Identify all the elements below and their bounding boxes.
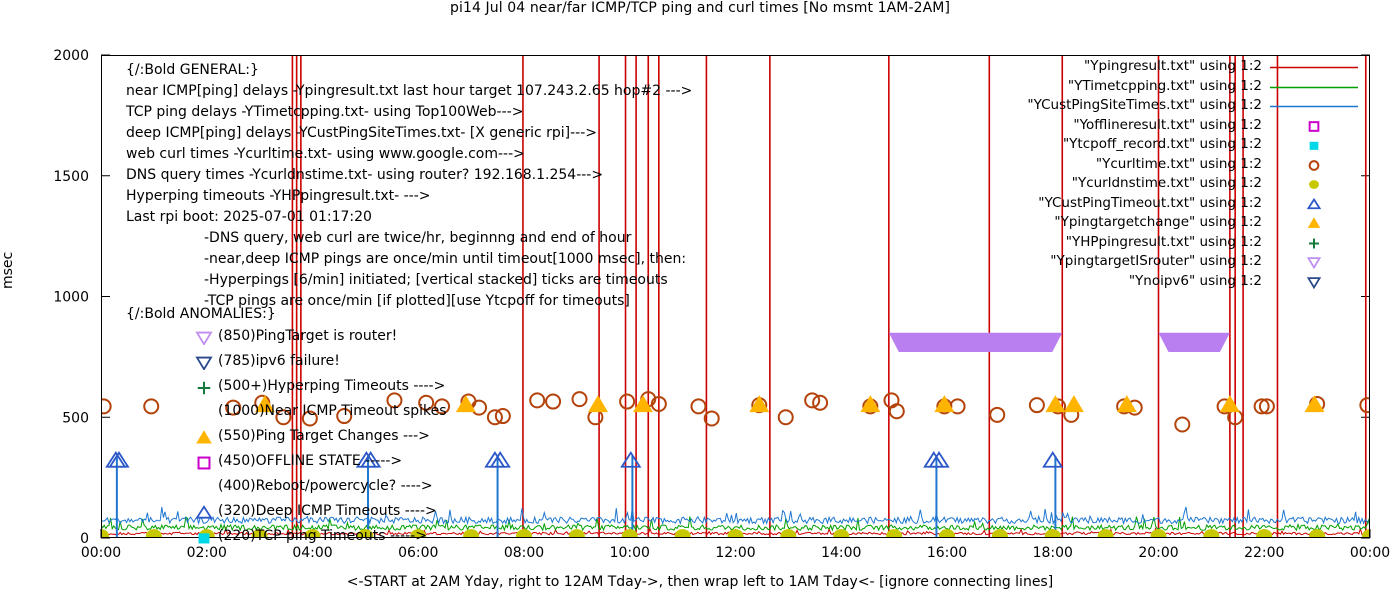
general-line: Last rpi boot: 2025-07-01 01:17:20 bbox=[126, 209, 372, 225]
legend-item[interactable]: "Ytcpoff_record.txt" using 1:2 bbox=[900, 136, 1380, 155]
general-line: Hyperping timeouts -YHPpingresult.txt- -… bbox=[126, 188, 431, 204]
legend-item[interactable]: "Ypingresult.txt" using 1:2 bbox=[900, 58, 1380, 77]
legend: "Ypingresult.txt" using 1:2"YTimetcpping… bbox=[900, 58, 1380, 298]
legend-label: "Ycurltime.txt" using 1:2 bbox=[1096, 156, 1262, 172]
anomaly-label: (785)ipv6 failure! bbox=[218, 353, 340, 369]
general-line-indented: -DNS query, web curl are twice/hr, begin… bbox=[204, 230, 631, 246]
anomaly-label: (400)Reboot/powercycle? ----> bbox=[218, 478, 433, 494]
legend-item[interactable]: "YpingtargetISrouter" using 1:2 bbox=[900, 253, 1380, 272]
legend-item[interactable]: "Yofflineresult.txt" using 1:2 bbox=[900, 117, 1380, 136]
general-line: near ICMP[ping] delays -Ypingresult.txt … bbox=[126, 83, 692, 99]
legend-label: "Yofflineresult.txt" using 1:2 bbox=[1073, 117, 1262, 133]
legend-key-triangle-filled bbox=[1266, 214, 1362, 233]
legend-key-triangle-open bbox=[1266, 195, 1362, 214]
anomaly-label: (220)TCP ping Timeouts -----> bbox=[218, 528, 427, 544]
legend-item[interactable]: "Ycurldnstime.txt" using 1:2 bbox=[900, 175, 1380, 194]
anomaly-marker-triangle-open bbox=[192, 502, 214, 520]
legend-key-circle-filled bbox=[1266, 175, 1362, 194]
general-line: web curl times -Ycurltime.txt- using www… bbox=[126, 146, 525, 162]
legend-item[interactable]: "Ycurltime.txt" using 1:2 bbox=[900, 156, 1380, 175]
legend-key-line bbox=[1266, 78, 1362, 97]
anomaly-label: (850)PingTarget is router! bbox=[218, 328, 397, 344]
legend-label: "YCustPingTimeout.txt" using 1:2 bbox=[1038, 195, 1262, 211]
legend-label: "YCustPingSiteTimes.txt" using 1:2 bbox=[1027, 97, 1262, 113]
anomaly-marker-square-filled bbox=[192, 527, 214, 545]
anomaly-label: (320)Deep ICMP Timeouts ----> bbox=[218, 503, 437, 519]
general-line-indented: -near,deep ICMP pings are once/min until… bbox=[204, 251, 686, 267]
general-heading: {/:Bold GENERAL:} bbox=[126, 62, 259, 78]
legend-item[interactable]: "YTimetcpping.txt" using 1:2 bbox=[900, 78, 1380, 97]
legend-item[interactable]: "YCustPingSiteTimes.txt" using 1:2 bbox=[900, 97, 1380, 116]
anomaly-marker-triangle-filled bbox=[192, 427, 214, 445]
legend-label: "Ypingtargetchange" using 1:2 bbox=[1054, 214, 1262, 230]
anomaly-marker-plus bbox=[192, 377, 214, 395]
general-line: DNS query times -Ycurldnstime.txt- using… bbox=[126, 167, 603, 183]
legend-label: "Ytcpoff_record.txt" using 1:2 bbox=[1063, 136, 1262, 152]
anomaly-label: (550)Ping Target Changes ---> bbox=[218, 428, 430, 444]
legend-item[interactable]: "YHPpingresult.txt" using 1:2 bbox=[900, 234, 1380, 253]
anomaly-label: (450)OFFLINE STATE -----> bbox=[218, 453, 402, 469]
legend-key-plus bbox=[1266, 234, 1362, 253]
legend-label: "YpingtargetISrouter" using 1:2 bbox=[1050, 253, 1262, 269]
legend-key-circle-open bbox=[1266, 156, 1362, 175]
legend-key-line bbox=[1266, 58, 1362, 77]
general-line-indented: -Hyperpings [6/min] initiated; [vertical… bbox=[204, 272, 668, 288]
legend-label: "Ycurldnstime.txt" using 1:2 bbox=[1072, 175, 1262, 191]
legend-key-square-filled bbox=[1266, 136, 1362, 155]
legend-label: "Ypingresult.txt" using 1:2 bbox=[1084, 58, 1262, 74]
legend-key-square-open bbox=[1266, 117, 1362, 136]
legend-key-line bbox=[1266, 97, 1362, 116]
anomaly-marker-square-open bbox=[192, 452, 214, 470]
legend-label: "YHPpingresult.txt" using 1:2 bbox=[1066, 234, 1262, 250]
general-line: deep ICMP[ping] delays -YCustPingSiteTim… bbox=[126, 125, 597, 141]
anomaly-marker-inv-triangle-open bbox=[192, 327, 214, 345]
legend-label: "Ynoipv6" using 1:2 bbox=[1129, 273, 1262, 289]
legend-item[interactable]: "Ypingtargetchange" using 1:2 bbox=[900, 214, 1380, 233]
legend-item[interactable]: "YCustPingTimeout.txt" using 1:2 bbox=[900, 195, 1380, 214]
legend-item[interactable]: "Ynoipv6" using 1:2 bbox=[900, 273, 1380, 292]
anomaly-marker-inv-triangle-dark bbox=[192, 352, 214, 370]
legend-label: "YTimetcpping.txt" using 1:2 bbox=[1068, 78, 1262, 94]
anomaly-label: (500+)Hyperping Timeouts ----> bbox=[218, 378, 445, 394]
legend-key-inv-triangle-dark bbox=[1266, 273, 1362, 292]
anomaly-label: (1000)Near ICMP Timeout spikes bbox=[218, 403, 447, 419]
legend-key-inv-triangle-open bbox=[1266, 253, 1362, 272]
anomalies-heading: {/:Bold ANOMALIES:} bbox=[126, 306, 276, 322]
general-line: TCP ping delays -YTimetcpping.txt- using… bbox=[126, 104, 523, 120]
